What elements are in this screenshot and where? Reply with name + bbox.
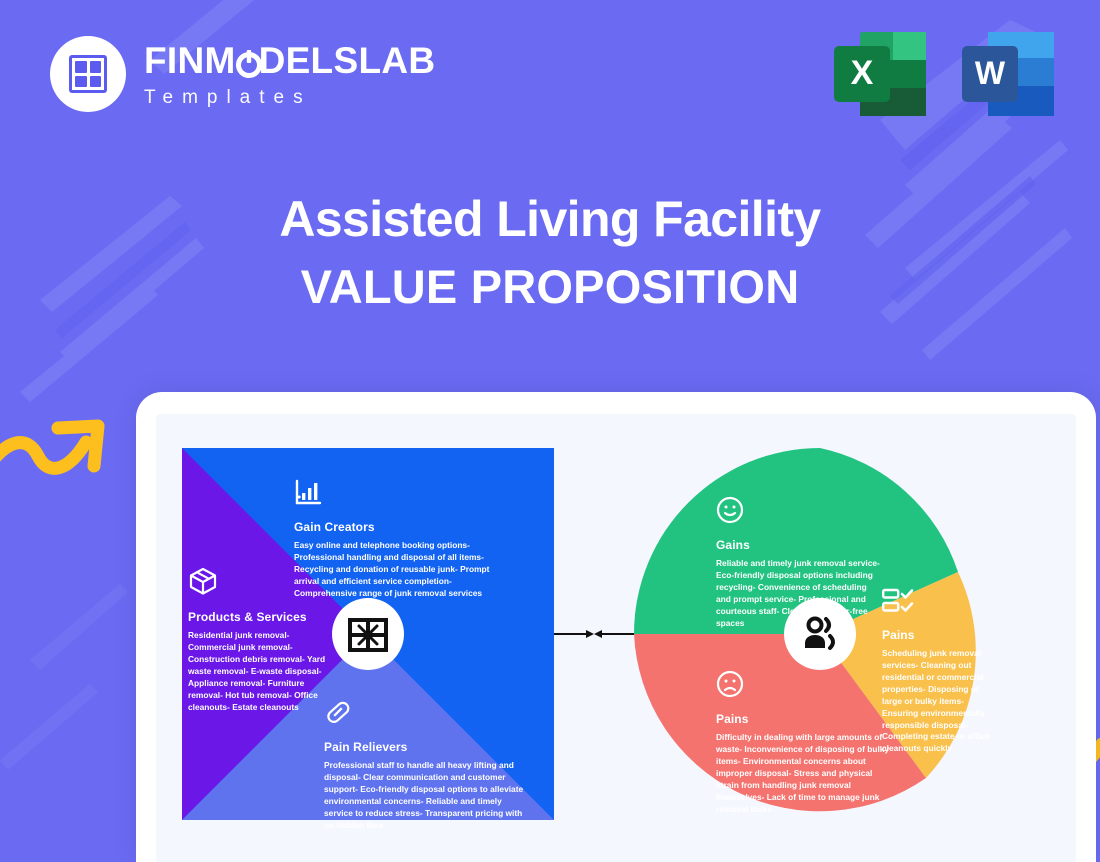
value-map-center-badge[interactable]	[332, 598, 404, 670]
value-proposition-canvas: Gain Creators Easy online and telephone …	[182, 448, 1062, 862]
segment-pain-relievers[interactable]: Pain Relievers Professional staff to han…	[324, 698, 524, 832]
template-preview-card: Gain Creators Easy online and telephone …	[136, 392, 1096, 862]
title-block: Assisted Living Facility VALUE PROPOSITI…	[0, 192, 1100, 313]
segment-body: Difficulty in dealing with large amounts…	[716, 732, 891, 815]
segment-products-services[interactable]: Products & Services Residential junk rem…	[188, 566, 338, 713]
segment-body: Scheduling junk removal services- Cleani…	[882, 648, 1000, 755]
preview-screen: Gain Creators Easy online and telephone …	[156, 414, 1076, 862]
brand-tagline: Templates	[144, 88, 435, 107]
brand-name: FINM DELSLAB	[144, 42, 435, 79]
segment-title: Gains	[716, 538, 881, 552]
page-header: FINM DELSLAB Templates X	[0, 0, 1100, 150]
smiley-happy-icon	[716, 496, 881, 529]
segment-body: Residential junk removal- Commercial jun…	[188, 630, 338, 713]
segment-title: Pains	[882, 628, 1002, 642]
value-map-square[interactable]: Gain Creators Easy online and telephone …	[182, 448, 554, 820]
squiggle-arrow-up-right-icon	[0, 406, 128, 486]
segment-title: Products & Services	[188, 610, 338, 624]
excel-letter: X	[851, 54, 874, 92]
smiley-sad-icon	[716, 670, 891, 703]
package-box-icon	[188, 566, 338, 601]
excel-icon: X	[830, 28, 930, 120]
bar-chart-icon	[294, 478, 524, 511]
segment-body: Professional staff to handle all heavy l…	[324, 760, 524, 832]
format-badges: X W	[830, 28, 1058, 120]
connector-double-arrow	[554, 625, 634, 643]
customer-profile-circle[interactable]: Gains Reliable and timely junk removal s…	[634, 448, 1006, 820]
page-subtitle: VALUE PROPOSITION	[0, 262, 1100, 313]
segment-title: Gain Creators	[294, 520, 524, 534]
brand-logo: FINM DELSLAB Templates	[50, 36, 435, 112]
word-icon: W	[958, 28, 1058, 120]
grid-squares-icon	[50, 36, 126, 112]
customer-people-icon	[798, 612, 842, 656]
customer-profile-center-badge[interactable]	[784, 598, 856, 670]
checklist-icon	[882, 588, 1002, 619]
segment-title: Pains	[716, 712, 891, 726]
power-o-glyph	[236, 42, 259, 79]
segment-pains[interactable]: Pains Difficulty in dealing with large a…	[716, 670, 891, 815]
pill-icon	[324, 698, 524, 731]
word-letter: W	[975, 55, 1006, 91]
page-title: Assisted Living Facility	[0, 192, 1100, 246]
segment-title: Pain Relievers	[324, 740, 524, 754]
segment-customer-jobs[interactable]: Pains Scheduling junk removal services- …	[882, 588, 1002, 755]
gift-box-icon	[345, 611, 391, 657]
